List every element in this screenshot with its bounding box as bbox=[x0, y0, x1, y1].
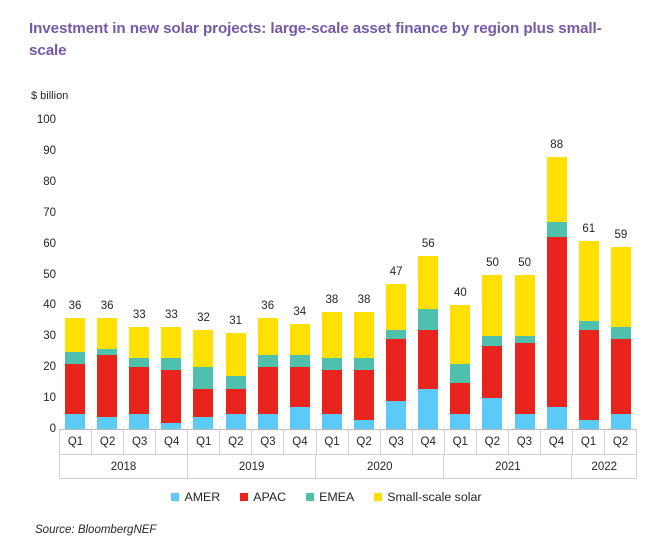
bar-segment-apac[interactable] bbox=[547, 237, 567, 407]
bar-column[interactable]: 56 bbox=[412, 120, 444, 429]
bar-stack[interactable] bbox=[547, 157, 567, 429]
y-axis-tick-label: 30 bbox=[22, 330, 56, 342]
quarter-label: Q2 bbox=[349, 429, 381, 455]
bar-series-group: 363633333231363438384756405050886159 bbox=[59, 120, 637, 429]
bar-stack[interactable] bbox=[322, 312, 342, 429]
bar-stack[interactable] bbox=[579, 241, 599, 429]
y-axis-tick-label: 60 bbox=[22, 238, 56, 250]
bar-segment-apac[interactable] bbox=[161, 370, 181, 423]
y-axis-tick-label: 70 bbox=[22, 207, 56, 219]
bar-value-label: 32 bbox=[197, 312, 210, 324]
quarter-label: Q1 bbox=[188, 429, 220, 455]
bar-segment-apac[interactable] bbox=[129, 367, 149, 413]
bar-segment-apac[interactable] bbox=[193, 389, 213, 417]
bar-stack[interactable] bbox=[258, 318, 278, 429]
quarter-label: Q1 bbox=[573, 429, 605, 455]
bar-segment-emea[interactable] bbox=[65, 352, 85, 364]
bar-value-label: 33 bbox=[165, 309, 178, 321]
bar-stack[interactable] bbox=[65, 318, 85, 429]
bar-column[interactable]: 32 bbox=[187, 120, 219, 429]
legend-swatch-icon bbox=[171, 493, 179, 501]
quarter-label: Q1 bbox=[317, 429, 349, 455]
bar-segment-amer[interactable] bbox=[547, 407, 567, 429]
bar-segment-small-scale-solar[interactable] bbox=[450, 305, 470, 364]
bar-segment-amer[interactable] bbox=[193, 417, 213, 429]
quarter-label: Q3 bbox=[124, 429, 156, 455]
bar-stack[interactable] bbox=[226, 333, 246, 429]
y-axis-tick-label: 40 bbox=[22, 299, 56, 311]
bar-stack[interactable] bbox=[450, 305, 470, 429]
quarter-label: Q2 bbox=[92, 429, 124, 455]
y-axis-tick-label: 50 bbox=[22, 269, 56, 281]
bar-stack[interactable] bbox=[611, 247, 631, 429]
category-axis: Q1Q2Q3Q4Q1Q2Q3Q4Q1Q2Q3Q4Q1Q2Q3Q4Q1Q2 201… bbox=[59, 429, 637, 479]
quarter-label: Q4 bbox=[413, 429, 445, 455]
bar-segment-emea[interactable] bbox=[386, 330, 406, 339]
bar-segment-amer[interactable] bbox=[418, 389, 438, 429]
bar-segment-emea[interactable] bbox=[611, 327, 631, 339]
bar-segment-small-scale-solar[interactable] bbox=[65, 318, 85, 352]
bar-stack[interactable] bbox=[97, 318, 117, 429]
quarter-label: Q2 bbox=[220, 429, 252, 455]
bar-segment-small-scale-solar[interactable] bbox=[611, 247, 631, 327]
bar-stack[interactable] bbox=[386, 284, 406, 429]
bar-segment-amer[interactable] bbox=[97, 417, 117, 429]
bar-stack[interactable] bbox=[354, 312, 374, 429]
bar-segment-small-scale-solar[interactable] bbox=[515, 275, 535, 337]
legend-item[interactable]: Small-scale solar bbox=[374, 490, 481, 504]
legend-item[interactable]: APAC bbox=[240, 490, 286, 504]
bar-column[interactable]: 50 bbox=[509, 120, 541, 429]
bar-column[interactable]: 36 bbox=[252, 120, 284, 429]
bar-value-label: 50 bbox=[518, 257, 531, 269]
bar-value-label: 36 bbox=[101, 300, 114, 312]
bar-segment-amer[interactable] bbox=[226, 414, 246, 429]
bar-segment-emea[interactable] bbox=[354, 358, 374, 370]
legend-label: AMER bbox=[184, 490, 220, 504]
bar-segment-emea[interactable] bbox=[547, 222, 567, 237]
bar-segment-small-scale-solar[interactable] bbox=[258, 318, 278, 355]
quarter-label-row: Q1Q2Q3Q4Q1Q2Q3Q4Q1Q2Q3Q4Q1Q2Q3Q4Q1Q2 bbox=[60, 429, 636, 455]
bar-column[interactable]: 38 bbox=[316, 120, 348, 429]
bar-segment-emea[interactable] bbox=[579, 321, 599, 330]
legend-swatch-icon bbox=[240, 493, 248, 501]
bar-segment-apac[interactable] bbox=[482, 346, 502, 399]
bar-segment-small-scale-solar[interactable] bbox=[161, 327, 181, 358]
bar-segment-apac[interactable] bbox=[611, 339, 631, 413]
bar-segment-emea[interactable] bbox=[482, 336, 502, 345]
bar-segment-emea[interactable] bbox=[418, 309, 438, 331]
bar-column[interactable]: 40 bbox=[444, 120, 476, 429]
bar-value-label: 33 bbox=[133, 309, 146, 321]
bar-segment-apac[interactable] bbox=[322, 370, 342, 413]
bar-segment-apac[interactable] bbox=[258, 367, 278, 413]
bar-value-label: 38 bbox=[358, 294, 371, 306]
bar-stack[interactable] bbox=[418, 256, 438, 429]
bar-segment-amer[interactable] bbox=[482, 398, 502, 429]
bar-segment-small-scale-solar[interactable] bbox=[193, 330, 213, 367]
year-label: 2020 bbox=[316, 455, 444, 478]
bar-segment-amer[interactable] bbox=[611, 414, 631, 429]
bar-segment-small-scale-solar[interactable] bbox=[354, 312, 374, 358]
bar-segment-apac[interactable] bbox=[579, 330, 599, 420]
bar-segment-apac[interactable] bbox=[418, 330, 438, 389]
y-axis-tick-label: 10 bbox=[22, 392, 56, 404]
y-axis-tick-label: 100 bbox=[22, 114, 56, 126]
bar-stack[interactable] bbox=[482, 275, 502, 429]
bar-value-label: 36 bbox=[69, 300, 82, 312]
bar-column[interactable]: 50 bbox=[476, 120, 508, 429]
bar-segment-small-scale-solar[interactable] bbox=[386, 284, 406, 330]
y-axis-tick-label: 80 bbox=[22, 176, 56, 188]
bar-segment-emea[interactable] bbox=[450, 364, 470, 383]
bar-segment-apac[interactable] bbox=[65, 364, 85, 413]
quarter-label: Q1 bbox=[445, 429, 477, 455]
y-axis-tick-label: 20 bbox=[22, 361, 56, 373]
quarter-label: Q4 bbox=[541, 429, 573, 455]
year-label: 2021 bbox=[444, 455, 572, 478]
quarter-label: Q4 bbox=[284, 429, 316, 455]
bar-stack[interactable] bbox=[290, 324, 310, 429]
bar-segment-emea[interactable] bbox=[322, 358, 342, 370]
quarter-label: Q3 bbox=[381, 429, 413, 455]
y-axis: 1009080706050403020100 bbox=[22, 0, 56, 546]
bar-segment-apac[interactable] bbox=[290, 367, 310, 407]
bar-segment-amer[interactable] bbox=[450, 414, 470, 429]
bar-segment-amer[interactable] bbox=[354, 420, 374, 429]
bar-segment-apac[interactable] bbox=[226, 389, 246, 414]
year-label: 2019 bbox=[188, 455, 316, 478]
bar-value-label: 56 bbox=[422, 238, 435, 250]
bar-segment-small-scale-solar[interactable] bbox=[547, 157, 567, 222]
legend-label: APAC bbox=[253, 490, 286, 504]
bar-column[interactable]: 31 bbox=[220, 120, 252, 429]
year-label-row: 20182019202020212022 bbox=[60, 455, 636, 478]
bar-value-label: 88 bbox=[550, 139, 563, 151]
bar-segment-small-scale-solar[interactable] bbox=[482, 275, 502, 337]
quarter-label: Q4 bbox=[156, 429, 188, 455]
bar-segment-amer[interactable] bbox=[258, 414, 278, 429]
legend-item[interactable]: EMEA bbox=[306, 490, 354, 504]
quarter-label: Q1 bbox=[60, 429, 92, 455]
bar-value-label: 36 bbox=[261, 300, 274, 312]
bar-segment-small-scale-solar[interactable] bbox=[97, 318, 117, 349]
bar-segment-apac[interactable] bbox=[97, 355, 117, 417]
bar-column[interactable]: 47 bbox=[380, 120, 412, 429]
bar-stack[interactable] bbox=[515, 275, 535, 429]
bar-column[interactable]: 38 bbox=[348, 120, 380, 429]
bar-value-label: 47 bbox=[390, 266, 403, 278]
y-axis-tick-label: 90 bbox=[22, 145, 56, 157]
quarter-label: Q3 bbox=[252, 429, 284, 455]
bar-segment-amer[interactable] bbox=[290, 407, 310, 429]
bar-value-label: 59 bbox=[615, 229, 628, 241]
bar-segment-amer[interactable] bbox=[386, 401, 406, 429]
bar-segment-emea[interactable] bbox=[129, 358, 149, 367]
y-axis-tick-label: 0 bbox=[22, 423, 56, 435]
bar-value-label: 38 bbox=[326, 294, 339, 306]
bar-value-label: 31 bbox=[229, 315, 242, 327]
bar-value-label: 50 bbox=[486, 257, 499, 269]
bar-column[interactable]: 36 bbox=[59, 120, 91, 429]
bar-segment-amer[interactable] bbox=[65, 414, 85, 429]
legend-label: Small-scale solar bbox=[387, 490, 481, 504]
quarter-label: Q2 bbox=[477, 429, 509, 455]
bar-segment-amer[interactable] bbox=[129, 414, 149, 429]
bar-segment-apac[interactable] bbox=[450, 383, 470, 414]
bar-segment-emea[interactable] bbox=[258, 355, 278, 367]
chart-legend: AMERAPACEMEASmall-scale solar bbox=[0, 490, 653, 504]
bar-segment-amer[interactable] bbox=[579, 420, 599, 429]
bar-segment-small-scale-solar[interactable] bbox=[322, 312, 342, 358]
bar-column[interactable]: 33 bbox=[123, 120, 155, 429]
source-note: Source: BloombergNEF bbox=[35, 524, 156, 536]
year-label: 2022 bbox=[572, 455, 636, 478]
bar-segment-small-scale-solar[interactable] bbox=[226, 333, 246, 376]
bar-segment-small-scale-solar[interactable] bbox=[290, 324, 310, 355]
bar-column[interactable]: 61 bbox=[573, 120, 605, 429]
bar-stack[interactable] bbox=[161, 327, 181, 429]
bar-segment-amer[interactable] bbox=[515, 414, 535, 429]
quarter-label: Q2 bbox=[605, 429, 636, 455]
bar-segment-emea[interactable] bbox=[290, 355, 310, 367]
bar-column[interactable]: 59 bbox=[605, 120, 637, 429]
bar-segment-emea[interactable] bbox=[193, 367, 213, 389]
legend-swatch-icon bbox=[306, 493, 314, 501]
quarter-label: Q3 bbox=[509, 429, 541, 455]
bar-column[interactable]: 33 bbox=[155, 120, 187, 429]
legend-label: EMEA bbox=[319, 490, 354, 504]
bar-segment-small-scale-solar[interactable] bbox=[129, 327, 149, 358]
bar-segment-emea[interactable] bbox=[161, 358, 181, 370]
bar-stack[interactable] bbox=[129, 327, 149, 429]
bar-value-label: 61 bbox=[582, 223, 595, 235]
bar-segment-apac[interactable] bbox=[386, 339, 406, 401]
legend-item[interactable]: AMER bbox=[171, 490, 220, 504]
bar-segment-apac[interactable] bbox=[515, 343, 535, 414]
bar-segment-small-scale-solar[interactable] bbox=[579, 241, 599, 321]
bar-value-label: 40 bbox=[454, 287, 467, 299]
bar-segment-emea[interactable] bbox=[226, 376, 246, 388]
legend-swatch-icon bbox=[374, 493, 382, 501]
year-label: 2018 bbox=[60, 455, 188, 478]
bar-segment-small-scale-solar[interactable] bbox=[418, 256, 438, 309]
bar-stack[interactable] bbox=[193, 330, 213, 429]
bar-value-label: 34 bbox=[293, 306, 306, 318]
bar-column[interactable]: 36 bbox=[91, 120, 123, 429]
bar-column[interactable]: 34 bbox=[284, 120, 316, 429]
bar-segment-apac[interactable] bbox=[354, 370, 374, 419]
bar-column[interactable]: 88 bbox=[541, 120, 573, 429]
bar-segment-amer[interactable] bbox=[322, 414, 342, 429]
